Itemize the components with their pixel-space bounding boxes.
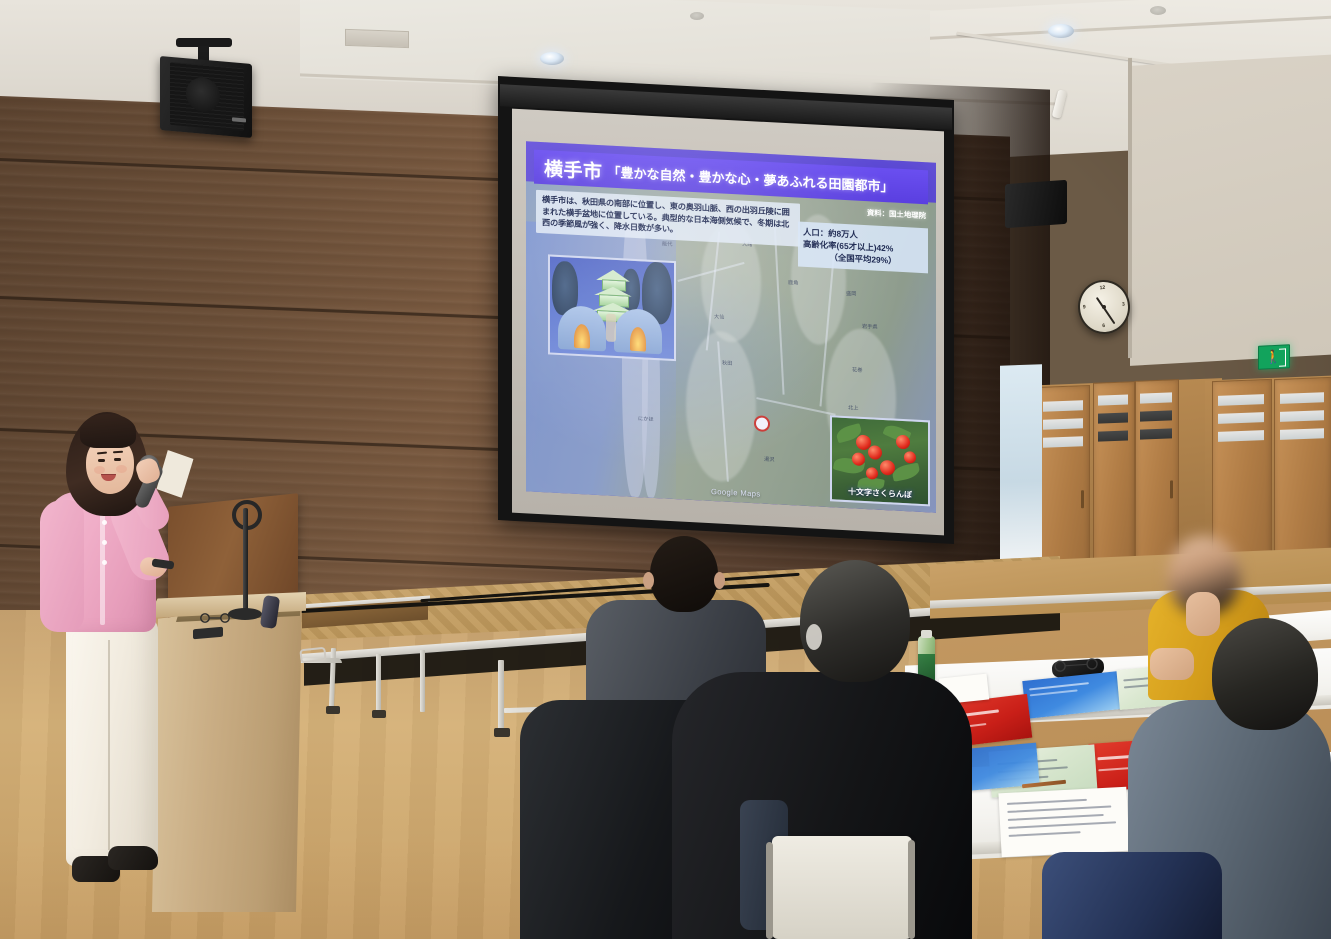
exit-sign: 🚶 (1258, 344, 1290, 370)
clock-minute-hand (1103, 307, 1115, 324)
chair-frame (908, 840, 915, 939)
map-location-pin (754, 415, 766, 430)
slide-title-main: 横手市 (544, 154, 603, 184)
audience-person-3-forearm (1150, 648, 1194, 680)
wall-clock: 12 3 6 9 (1076, 278, 1132, 335)
map-label: 秋田 (722, 360, 732, 368)
slide-photo-cherries: 十文字さくらんぼ (830, 415, 930, 506)
photo-scene: 能代 秋田 由利本荘 にかほ 大館 鹿角 盛岡 北上 花巻 横手 湯沢 岩手県 … (0, 0, 1331, 939)
podium (152, 600, 302, 912)
stucco-wall (1130, 54, 1331, 366)
audience-person-4-coat (1042, 852, 1222, 939)
downlight (690, 12, 704, 20)
downlight (1150, 6, 1166, 15)
stage-foot (494, 728, 510, 737)
presenter-cardigan-placket (100, 500, 105, 625)
door-opening (1000, 364, 1042, 560)
audience-person-2-head (800, 560, 910, 682)
audience-person-2-mask-strap (806, 624, 822, 650)
cherry-photo-caption: 十文字さくらんぼ (832, 485, 928, 501)
presentation-slide: 能代 秋田 由利本荘 にかほ 大館 鹿角 盛岡 北上 花巻 横手 湯沢 岩手県 … (526, 141, 936, 512)
audience-person-3-hand (1186, 592, 1220, 636)
ceiling-vent (345, 29, 409, 48)
eyeglasses-on-podium (196, 610, 236, 620)
map-label: 湯沢 (764, 456, 774, 464)
audience-person-1-head (650, 536, 718, 612)
map-label: 岩手県 (862, 323, 878, 331)
stage-leg (376, 654, 381, 712)
sliding-door[interactable] (1036, 385, 1090, 587)
chair-frame (766, 842, 773, 939)
stage-foot (372, 710, 386, 718)
sliding-door[interactable] (1093, 381, 1135, 585)
stage-leg (420, 650, 425, 712)
sliding-door[interactable] (1274, 377, 1331, 577)
slide-stats-box: 人口：約8万人 高齢化率(65才以上)42% （全国平均29%） (798, 222, 928, 273)
presenter-fringe (80, 414, 136, 448)
map-label: にかほ (638, 415, 654, 423)
chair[interactable] (772, 836, 912, 939)
audience-person-1-ear (643, 572, 654, 589)
slide-photo-kamakura (548, 254, 676, 361)
presenter-trouser-seam (108, 640, 110, 850)
tea-bottle-cap (921, 630, 932, 638)
ceiling-speaker (1005, 180, 1067, 228)
podium-bracket (299, 647, 326, 664)
map-attribution: Google Maps (711, 487, 761, 499)
sliding-door[interactable] (1135, 379, 1179, 583)
audience-person-1-ear (714, 572, 725, 589)
stage-leg (498, 660, 504, 730)
presenter-shoe (108, 846, 158, 870)
map-label: 鹿角 (788, 279, 798, 287)
stage-foot (326, 706, 340, 714)
map-label: 北上 (848, 404, 858, 412)
slide-body-text: 横手市は、秋田県の南部に位置し、東の奥羽山脈、西の出羽丘陵に囲まれた横手盆地に位… (542, 194, 794, 242)
handout-document[interactable] (998, 787, 1129, 858)
map-label: 能代 (662, 240, 672, 248)
map-label: 盛岡 (846, 290, 856, 298)
audience-person-4-head (1212, 618, 1318, 730)
downlight (1048, 24, 1074, 38)
downlight (540, 52, 564, 65)
map-label: 大仙 (714, 313, 724, 321)
presenter-trousers (66, 616, 158, 866)
ceiling-speaker (160, 56, 252, 138)
presenter-arm-left (40, 500, 84, 632)
microphone-stand (243, 508, 248, 616)
map-label: 花巻 (852, 366, 862, 374)
